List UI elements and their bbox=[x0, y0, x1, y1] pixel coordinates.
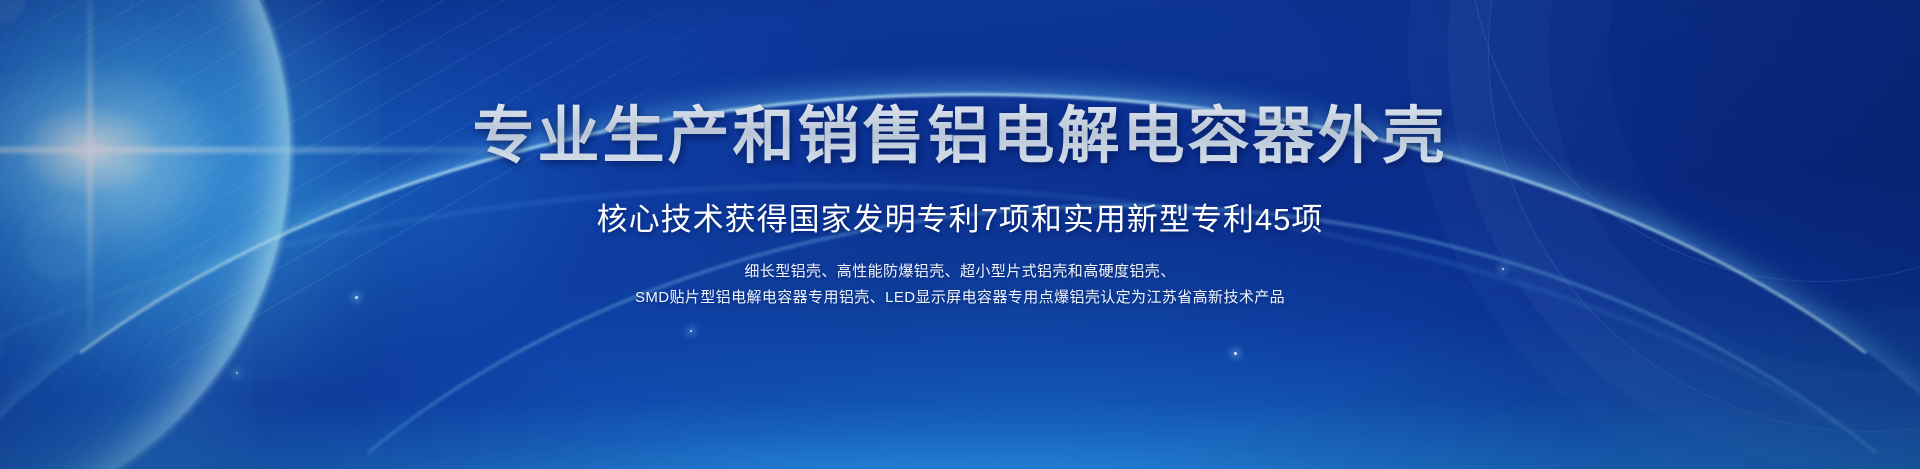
banner-text-block: 专业生产和销售铝电解电容器外壳 核心技术获得国家发明专利7项和实用新型专利45项… bbox=[0, 0, 1920, 310]
hero-banner: 专业生产和销售铝电解电容器外壳 核心技术获得国家发明专利7项和实用新型专利45项… bbox=[0, 0, 1920, 469]
banner-subtitle: 核心技术获得国家发明专利7项和实用新型专利45项 bbox=[0, 170, 1920, 239]
bottom-sheen-graphic bbox=[0, 319, 1920, 469]
banner-description-line-1: 细长型铝壳、高性能防爆铝壳、超小型片式铝壳和高硬度铝壳、 bbox=[0, 259, 1920, 285]
banner-description-line-2: SMD贴片型铝电解电容器专用铝壳、LED显示屏电容器专用点爆铝壳认定为江苏省高新… bbox=[0, 285, 1920, 311]
sparkle-icon bbox=[690, 330, 692, 332]
banner-description: 细长型铝壳、高性能防爆铝壳、超小型片式铝壳和高硬度铝壳、 SMD贴片型铝电解电容… bbox=[0, 239, 1920, 311]
sparkle-icon bbox=[1234, 352, 1237, 355]
banner-title: 专业生产和销售铝电解电容器外壳 bbox=[0, 0, 1920, 170]
sparkle-icon bbox=[236, 372, 238, 374]
